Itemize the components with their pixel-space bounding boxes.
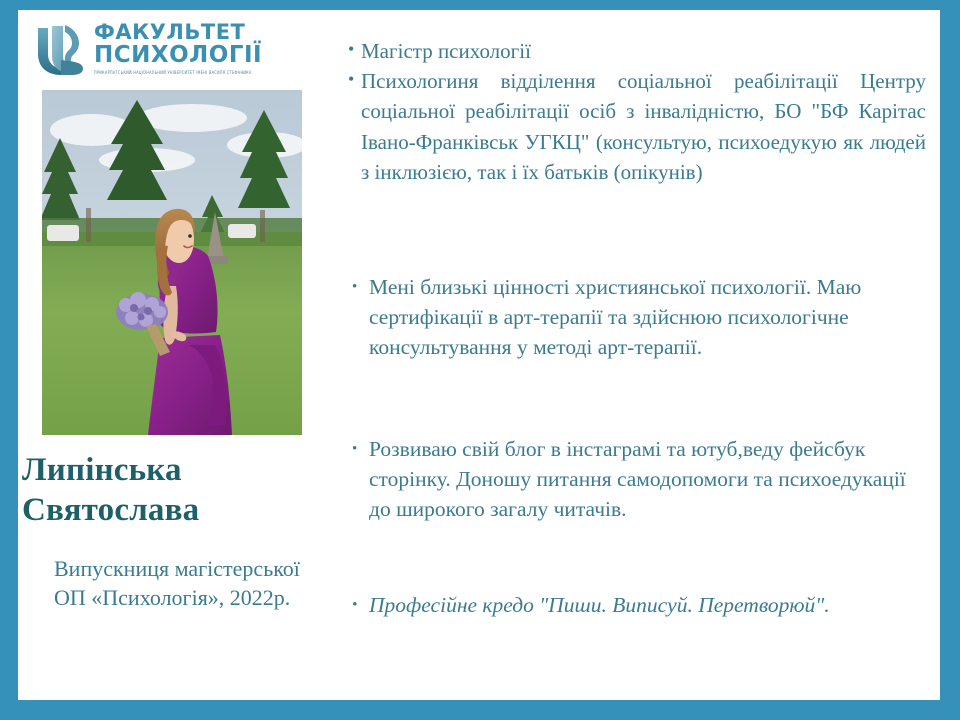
person-caption: Випускниця магістерської ОП «Психологія»… — [54, 555, 324, 612]
bullet-glyph-icon: • — [348, 66, 354, 93]
sub-bullet-list-values: • Мені близькі цінності християнської пс… — [352, 272, 922, 362]
person-given-name: Святослава — [22, 490, 322, 530]
list-item: • Мені близькі цінності християнської пс… — [352, 272, 922, 362]
right-column: • Магістр психології • Психологиня відді… — [330, 10, 940, 700]
list-item: • Психологиня відділення соціальної реаб… — [348, 66, 926, 187]
sub-bullet-list-credo: • Професійне кредо "Пиши. Випиcуй. Перет… — [352, 590, 922, 620]
logo-wordmark: ФАКУЛЬТЕТ ПСИХОЛОГІЇ ПРИКАРПАТСЬКИЙ НАЦІ… — [94, 22, 306, 74]
top-bullet-list: • Магістр психології • Психологиня відді… — [348, 36, 926, 187]
list-item-text: Психологиня відділення соціальної реабіл… — [361, 69, 926, 184]
psi-face-logo-icon — [32, 24, 94, 78]
white-content-panel: ФАКУЛЬТЕТ ПСИХОЛОГІЇ ПРИКАРПАТСЬКИЙ НАЦІ… — [18, 10, 940, 700]
faculty-logo: ФАКУЛЬТЕТ ПСИХОЛОГІЇ ПРИКАРПАТСЬКИЙ НАЦІ… — [32, 22, 304, 84]
logo-line-psychology: ПСИХОЛОГІЇ — [94, 44, 306, 67]
list-item-text: Розвиваю свій блог в інстаграмі та ютуб,… — [369, 437, 906, 521]
list-item-text: Професійне кредо "Пиши. Випиcуй. Перетво… — [369, 593, 830, 617]
bullet-glyph-icon: • — [352, 590, 357, 620]
slide-canvas: ФАКУЛЬТЕТ ПСИХОЛОГІЇ ПРИКАРПАТСЬКИЙ НАЦІ… — [0, 0, 960, 720]
logo-line-faculty: ФАКУЛЬТЕТ — [94, 22, 306, 43]
person-name: Липінська Святослава — [22, 450, 322, 531]
person-surname: Липінська — [22, 450, 322, 490]
list-item: • Професійне кредо "Пиши. Випиcуй. Перет… — [352, 590, 922, 620]
bullet-glyph-icon: • — [352, 434, 357, 464]
bullet-glyph-icon: • — [352, 272, 357, 302]
list-item-text: Магістр психології — [361, 39, 531, 63]
graduate-photo — [42, 90, 302, 435]
bullet-glyph-icon: • — [348, 36, 354, 63]
left-column: ФАКУЛЬТЕТ ПСИХОЛОГІЇ ПРИКАРПАТСЬКИЙ НАЦІ… — [18, 10, 330, 700]
list-item: • Розвиваю свій блог в інстаграмі та юту… — [352, 434, 922, 524]
sub-bullet-list-blog: • Розвиваю свій блог в інстаграмі та юту… — [352, 434, 922, 524]
logo-university-subtitle: ПРИКАРПАТСЬКИЙ НАЦІОНАЛЬНИЙ УНІВЕРСИТЕТ … — [94, 70, 306, 75]
list-item: • Магістр психології — [348, 36, 926, 66]
list-item-text: Мені близькі цінності християнської псих… — [369, 275, 861, 359]
